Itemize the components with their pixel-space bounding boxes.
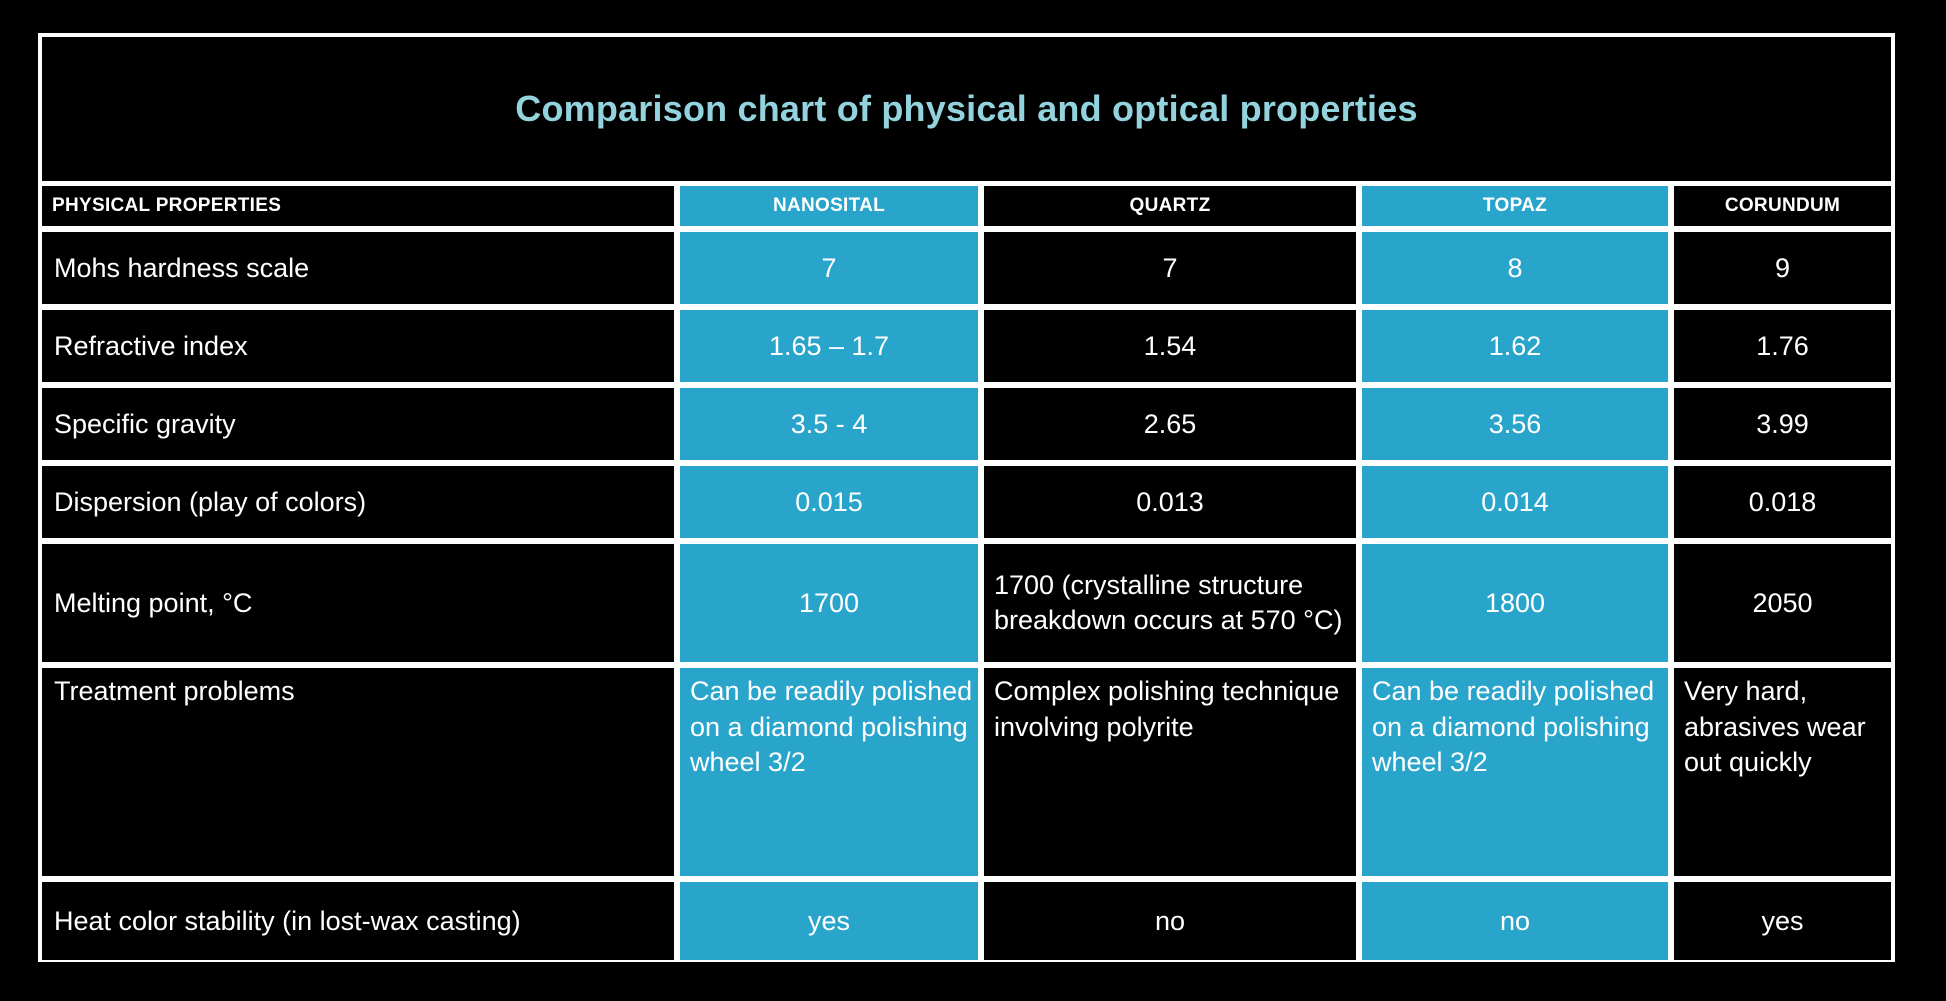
row-label: Treatment problems [54, 674, 295, 710]
cell-value: 2050 [1752, 588, 1812, 619]
row-label-cell: Mohs hardness scale [42, 232, 674, 304]
cell-value: 9 [1775, 253, 1790, 284]
column-header-quartz-label: QUARTZ [1130, 195, 1211, 217]
cell-quartz: Complex polishing technique involving po… [984, 668, 1356, 876]
slide-canvas: Comparison chart of physical and optical… [0, 0, 1946, 1001]
cell-nanosital: 1700 [680, 544, 978, 662]
row-label-cell: Specific gravity [42, 388, 674, 460]
cell-value: Can be readily polished on a diamond pol… [1372, 674, 1668, 781]
row-label: Melting point, °C [54, 588, 252, 619]
table-row: Mohs hardness scale 7 7 8 9 [42, 232, 1891, 304]
cell-quartz: 7 [984, 232, 1356, 304]
table-row: Dispersion (play of colors) 0.015 0.013 … [42, 466, 1891, 538]
cell-topaz: 8 [1362, 232, 1668, 304]
table-row: Treatment problems Can be readily polish… [42, 668, 1891, 876]
title-band: Comparison chart of physical and optical… [42, 37, 1891, 181]
cell-value: 3.99 [1756, 409, 1809, 440]
column-header-quartz: QUARTZ [984, 186, 1356, 226]
table-row: Heat color stability (in lost-wax castin… [42, 882, 1891, 960]
column-header-topaz: TOPAZ [1362, 186, 1668, 226]
cell-value: 7 [1162, 253, 1177, 284]
cell-corundum: 1.76 [1674, 310, 1891, 382]
table-row: Specific gravity 3.5 - 4 2.65 3.56 3.99 [42, 388, 1891, 460]
cell-corundum: 9 [1674, 232, 1891, 304]
cell-quartz: 0.013 [984, 466, 1356, 538]
cell-value: yes [1761, 906, 1803, 937]
cell-value: 0.018 [1749, 487, 1817, 518]
cell-value: 1.54 [1144, 331, 1197, 362]
row-label: Mohs hardness scale [54, 253, 309, 284]
cell-value: 8 [1507, 253, 1522, 284]
cell-value: 1.65 – 1.7 [769, 331, 889, 362]
cell-value: 0.014 [1481, 487, 1549, 518]
row-label-cell: Refractive index [42, 310, 674, 382]
row-label-cell: Treatment problems [42, 668, 674, 876]
cell-value: 1800 [1485, 588, 1545, 619]
cell-nanosital: Can be readily polished on a diamond pol… [680, 668, 978, 876]
cell-topaz: 3.56 [1362, 388, 1668, 460]
cell-value: Very hard, abrasives wear out quickly [1684, 674, 1891, 781]
cell-value: 1.76 [1756, 331, 1809, 362]
cell-quartz: no [984, 882, 1356, 960]
cell-value: 7 [821, 253, 836, 284]
cell-topaz: Can be readily polished on a diamond pol… [1362, 668, 1668, 876]
cell-nanosital: yes [680, 882, 978, 960]
cell-value: yes [808, 906, 850, 937]
cell-value: 1.62 [1489, 331, 1542, 362]
cell-nanosital: 1.65 – 1.7 [680, 310, 978, 382]
cell-corundum: 3.99 [1674, 388, 1891, 460]
cell-corundum: 0.018 [1674, 466, 1891, 538]
table-frame: Comparison chart of physical and optical… [38, 33, 1895, 962]
column-header-corundum: CORUNDUM [1674, 186, 1891, 226]
cell-value: Complex polishing technique involving po… [994, 674, 1356, 745]
cell-value: 3.56 [1489, 409, 1542, 440]
row-label: Specific gravity [54, 409, 236, 440]
page-title: Comparison chart of physical and optical… [515, 88, 1417, 130]
table-header-row: PHYSICAL PROPERTIES NANOSITAL QUARTZ TOP… [42, 186, 1891, 226]
cell-topaz: 1.62 [1362, 310, 1668, 382]
cell-value: 0.015 [795, 487, 863, 518]
cell-nanosital: 3.5 - 4 [680, 388, 978, 460]
cell-nanosital: 7 [680, 232, 978, 304]
cell-value: 3.5 - 4 [791, 409, 868, 440]
cell-topaz: 0.014 [1362, 466, 1668, 538]
cell-corundum: Very hard, abrasives wear out quickly [1674, 668, 1891, 876]
column-header-property-label: PHYSICAL PROPERTIES [52, 195, 281, 217]
cell-value: 1700 [799, 588, 859, 619]
cell-topaz: 1800 [1362, 544, 1668, 662]
cell-corundum: yes [1674, 882, 1891, 960]
cell-value: 0.013 [1136, 487, 1204, 518]
row-label-cell: Heat color stability (in lost-wax castin… [42, 882, 674, 960]
row-label-cell: Dispersion (play of colors) [42, 466, 674, 538]
cell-value: no [1155, 906, 1185, 937]
table-frame-inner: Comparison chart of physical and optical… [42, 37, 1891, 958]
comparison-table: PHYSICAL PROPERTIES NANOSITAL QUARTZ TOP… [42, 186, 1891, 960]
row-label-cell: Melting point, °C [42, 544, 674, 662]
column-header-nanosital: NANOSITAL [680, 186, 978, 226]
column-header-topaz-label: TOPAZ [1483, 195, 1547, 217]
table-row: Melting point, °C 1700 1700 (crystalline… [42, 544, 1891, 662]
cell-quartz: 2.65 [984, 388, 1356, 460]
cell-corundum: 2050 [1674, 544, 1891, 662]
column-header-corundum-label: CORUNDUM [1725, 195, 1840, 217]
cell-value: 2.65 [1144, 409, 1197, 440]
row-label: Dispersion (play of colors) [54, 487, 366, 518]
cell-quartz: 1.54 [984, 310, 1356, 382]
cell-topaz: no [1362, 882, 1668, 960]
row-label: Heat color stability (in lost-wax castin… [54, 906, 521, 937]
row-label: Refractive index [54, 331, 248, 362]
cell-nanosital: 0.015 [680, 466, 978, 538]
cell-value: Can be readily polished on a diamond pol… [690, 674, 978, 781]
table-row: Refractive index 1.65 – 1.7 1.54 1.62 1.… [42, 310, 1891, 382]
column-header-property: PHYSICAL PROPERTIES [42, 186, 674, 226]
cell-quartz: 1700 (crystalline structure breakdown oc… [984, 544, 1356, 662]
cell-value: 1700 (crystalline structure breakdown oc… [994, 568, 1356, 637]
column-header-nanosital-label: NANOSITAL [773, 195, 885, 217]
cell-value: no [1500, 906, 1530, 937]
